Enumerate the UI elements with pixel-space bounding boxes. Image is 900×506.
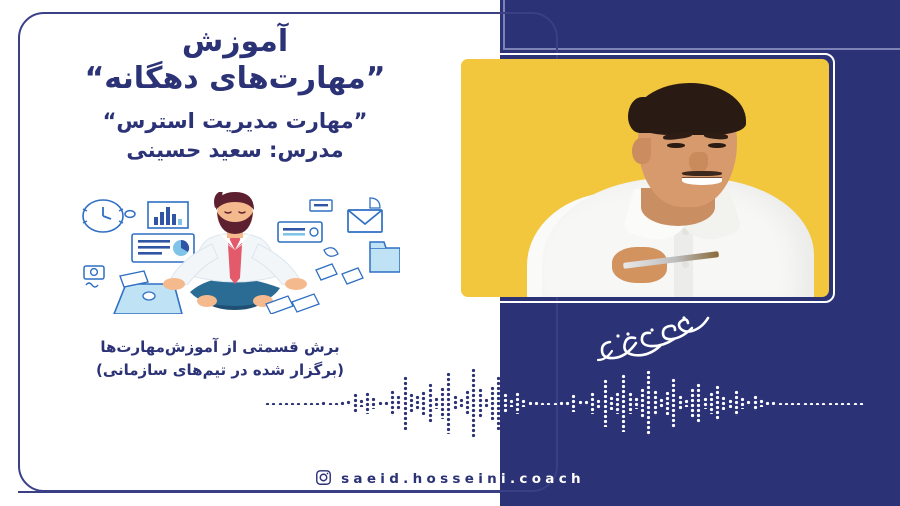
waveform-bar xyxy=(671,378,676,428)
waveform-bar xyxy=(296,402,301,405)
waveform-bar xyxy=(290,402,295,405)
waveform-bar xyxy=(603,379,608,427)
waveform-bar xyxy=(409,393,414,413)
waveform-bar xyxy=(615,392,620,414)
waveform-bar xyxy=(346,400,351,406)
meditating-businessman-illustration xyxy=(70,192,400,314)
waveform-bar xyxy=(803,402,808,405)
id-card-icon xyxy=(278,222,322,242)
waveform-bar xyxy=(371,397,376,409)
waveform-bar xyxy=(415,395,420,411)
waveform-bar xyxy=(478,388,483,418)
waveform-bar xyxy=(284,402,289,405)
waveform-bar xyxy=(271,402,276,405)
waveform-bar xyxy=(446,372,451,434)
waveform-bar xyxy=(584,400,589,406)
waveform-bar xyxy=(528,401,533,406)
waveform-bar xyxy=(796,402,801,405)
waveform-bar xyxy=(328,402,333,405)
waveform-bar xyxy=(596,399,601,408)
waveform-bar xyxy=(859,402,864,405)
waveform-bar xyxy=(390,390,395,416)
waveform-bar xyxy=(315,402,320,405)
poster-canvas: آموزش ”مهارت‌های دهگانه“ ”مهارت مدیریت ا… xyxy=(0,0,900,506)
waveform-bar xyxy=(540,402,545,405)
waveform-bar xyxy=(453,395,458,411)
waveform-bar xyxy=(740,397,745,409)
waveform-bar xyxy=(321,401,326,405)
waveform-bar xyxy=(359,399,364,407)
dot-icon xyxy=(125,211,135,218)
waveform-bar xyxy=(840,402,845,405)
waveform-bar xyxy=(759,399,764,407)
pie-report-icon xyxy=(132,234,194,262)
camera-icon xyxy=(84,266,104,279)
waveform-bar xyxy=(634,397,639,409)
instructor-portrait-frame xyxy=(455,53,835,303)
waveform-bar xyxy=(278,402,283,405)
instagram-footer[interactable]: saeid.hosseini.coach xyxy=(0,466,900,492)
waveform-bar xyxy=(640,388,645,418)
waveform-bar xyxy=(428,383,433,423)
waveform-bar xyxy=(846,402,851,405)
waveform-bar xyxy=(484,398,489,408)
waveform-bar xyxy=(753,395,758,411)
waveform-bar xyxy=(721,396,726,410)
folder-icon xyxy=(370,242,400,272)
waveform-bar xyxy=(421,391,426,415)
poster-title-line2: ”مهارت‌های دهگانه“ xyxy=(0,61,470,98)
portrait-sideburn xyxy=(628,97,654,133)
bar-chart-icon xyxy=(148,202,188,228)
waveform-bar xyxy=(559,401,564,405)
waveform-bar xyxy=(353,393,358,413)
waveform-bar xyxy=(546,402,551,405)
instructor-portrait xyxy=(461,59,829,297)
waveform-bar xyxy=(853,402,858,405)
title-block: آموزش ”مهارت‌های دهگانه“ ”مهارت مدیریت ا… xyxy=(0,24,470,164)
waveform-bar xyxy=(590,392,595,414)
waveform-bar xyxy=(459,398,464,408)
waveform-bar xyxy=(465,390,470,416)
waveform-bar xyxy=(815,402,820,405)
waveform-bar xyxy=(334,402,339,405)
waveform-bar xyxy=(521,399,526,407)
waveform-bar xyxy=(678,395,683,411)
waveform-bar xyxy=(365,392,370,414)
card-bottom-rule xyxy=(18,491,500,493)
waveform-bar xyxy=(790,402,795,405)
waveform-bar xyxy=(828,402,833,405)
waveform-bar xyxy=(696,383,701,423)
instagram-handle: saeid.hosseini.coach xyxy=(341,471,585,487)
waveform-bar xyxy=(578,400,583,406)
waveform-bar xyxy=(496,376,501,430)
waveform-bar xyxy=(728,399,733,408)
poster-subtitle-line1: ”مهارت مدیریت استرس“ xyxy=(0,107,470,135)
waveform-bar xyxy=(490,386,495,420)
clock-icon xyxy=(83,200,123,232)
tag-icon xyxy=(310,200,332,211)
waveform-bar xyxy=(665,391,670,415)
waveform-bar xyxy=(309,402,314,405)
waveform-bar xyxy=(628,392,633,414)
waveform-bar xyxy=(784,402,789,405)
waveform-bar xyxy=(621,374,626,432)
waveform-bar xyxy=(646,370,651,436)
waveform-bar xyxy=(471,368,476,438)
waveform-bar xyxy=(653,390,658,416)
scribble-icon xyxy=(86,283,98,287)
portrait-moustache xyxy=(682,171,722,176)
waveform-bar xyxy=(303,402,308,405)
waveform-bar xyxy=(571,394,576,412)
waveform-bar xyxy=(378,401,383,405)
waveform-bar xyxy=(553,402,558,405)
waveform-bar xyxy=(809,402,814,405)
waveform-bar xyxy=(403,376,408,430)
waveform-bar xyxy=(515,392,520,414)
waveform-bar xyxy=(384,401,389,405)
waveform-bar xyxy=(434,397,439,409)
waveform-bar xyxy=(709,392,714,414)
poster-title-line1: آموزش xyxy=(0,24,470,61)
waveform-bar xyxy=(834,402,839,405)
waveform-bar xyxy=(690,388,695,418)
waveform-bar xyxy=(659,398,664,408)
waveform-bar xyxy=(565,401,570,406)
envelope-icon xyxy=(348,210,382,232)
page-corner-icon xyxy=(370,198,380,208)
waveform-bar xyxy=(534,401,539,405)
waveform-bar xyxy=(440,387,445,419)
waveform-bar xyxy=(771,401,776,405)
waveform-bar xyxy=(778,402,783,405)
waveform-bar xyxy=(340,401,345,405)
waveform-bar xyxy=(821,402,826,405)
waveform-bar xyxy=(746,400,751,406)
portrait-ear xyxy=(632,138,650,164)
waveform-bar xyxy=(765,401,770,405)
waveform-bar xyxy=(509,399,514,407)
waveform-bar xyxy=(684,399,689,407)
waveform-bar xyxy=(609,396,614,410)
instagram-icon xyxy=(315,469,332,490)
waveform-bar xyxy=(703,397,708,409)
waveform-bar xyxy=(265,402,270,405)
audio-waveform xyxy=(265,356,865,450)
waveform-bar xyxy=(503,393,508,413)
waveform-bar xyxy=(715,385,720,421)
waveform-bar xyxy=(734,390,739,416)
poster-subtitle-line2: مدرس: سعید حسینی xyxy=(0,136,470,164)
waveform-bar xyxy=(396,395,401,411)
